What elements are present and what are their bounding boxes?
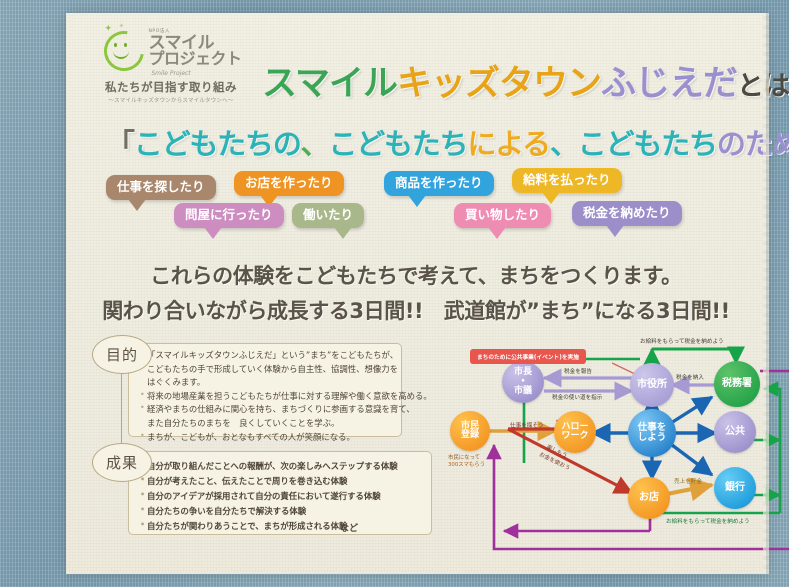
list-item-cont: また自分たちのまちを 良くしていくことを学ぶ。 xyxy=(140,417,432,431)
quote-seg-1: こどもたちの xyxy=(134,127,301,161)
slide-paper: ✦ ✦ NPO法人 スマイル プロジェクト Smile Project 私たちが… xyxy=(66,13,766,574)
slogan-quote: 「こどもたちの、こどもたちによる、こどもたちのためのまち」 xyxy=(106,121,789,163)
label-tax-delivery: 税金を納入 xyxy=(676,373,704,381)
sparkle-small-icon: ✦ xyxy=(118,23,124,30)
bubble-work: 働いたり xyxy=(292,203,364,228)
node-label: お店 xyxy=(639,493,659,504)
quote-seg-3: による xyxy=(467,127,550,161)
node-shop: お店 xyxy=(628,477,670,519)
page-title: スマイルキッズタウンふじえだとは… xyxy=(262,55,789,106)
title-part-kidstown: キッズタウン xyxy=(397,64,601,104)
node-label: 市長・市議 xyxy=(514,368,532,396)
node-hello-work: ハローワーク xyxy=(554,411,596,453)
logo-block: ✦ ✦ NPO法人 スマイル プロジェクト Smile Project 私たちが… xyxy=(76,25,266,104)
list-item: 将来の地場産業を担うこどもたちが仕事に対する理解や働く意欲を高める。 xyxy=(140,390,432,404)
title-part-fujieda: ふじえだ xyxy=(601,64,737,104)
logo-line2: プロジェクト xyxy=(148,51,241,66)
node-label: 市役所 xyxy=(637,380,667,391)
sparkle-icon: ✦ xyxy=(104,25,112,34)
list-item: 自分が取り組んだことへの報酬が、次の楽しみへステップする体験 xyxy=(140,459,398,474)
town-flow-diagram: 市長・市議 市役所 税務署 市民登録 ハローワーク 仕事をしよう 公共 銀行 お… xyxy=(464,335,789,567)
purpose-pill-label: 目的 xyxy=(92,335,152,374)
node-bank: 銀行 xyxy=(714,467,756,509)
label-save-sales: 売上を貯金 xyxy=(674,477,702,485)
node-label: 仕事をしよう xyxy=(638,423,667,443)
logo-subtitle: 私たちが目指す取り組み xyxy=(76,79,266,95)
label-salary-tax-top: お給料をもらって税金を納めよう xyxy=(640,337,724,345)
label-tax-usage: 税金の使い道を指示 xyxy=(552,393,602,401)
node-city-hall: 市役所 xyxy=(630,363,674,407)
list-item-cont: はぐくみます。 xyxy=(140,376,432,390)
list-item: 自分のアイデアが採用されて自分の責任において遂行する体験 xyxy=(140,489,398,504)
title-part-smile: スマイル xyxy=(262,64,397,104)
quote-comma-2: 、 xyxy=(550,127,578,161)
node-mayor-council: 市長・市議 xyxy=(502,361,544,403)
purpose-list: 「スマイルキッズタウンふじえだ」という”まち”をこどもたちが、 こどもたちの手で… xyxy=(140,349,432,444)
caption-citizen-bonus: 市民になって 300スマもらう xyxy=(448,455,485,469)
list-item: まちが、こどもが、おとなもすべての人が笑顔になる。 xyxy=(140,431,432,445)
title-part-towa: とは… xyxy=(737,71,789,102)
bubble-open-shop: お店を作ったり xyxy=(234,171,344,196)
label-salary-tax-bottom: お給料をもらって税金を納めよう xyxy=(666,517,750,525)
smile-face-icon: ✦ ✦ xyxy=(100,25,144,69)
node-label: 税務署 xyxy=(722,379,752,390)
label-find-job: 仕事を探そう xyxy=(510,421,544,429)
quote-seg-4: こどもたち xyxy=(578,127,717,161)
intro-line-2: 関わり合いながら成長する3日間!! 武道館が”まち”になる3日間!! xyxy=(66,295,766,325)
logo-cursive-text: Smile Project xyxy=(76,70,266,77)
bubble-shopping: 買い物したり xyxy=(454,203,551,228)
bubble-go-wholesaler: 問屋に行ったり xyxy=(174,203,284,228)
quote-seg-5: のためのまち xyxy=(717,127,789,161)
node-tax-office: 税務署 xyxy=(714,361,760,407)
quote-seg-2: こどもたち xyxy=(328,127,467,161)
quote-comma-1: 、 xyxy=(301,127,329,161)
logo-subtitle-small: ～スマイルキッズタウンからスマイルタウンへ～ xyxy=(76,96,266,104)
bubble-job-search: 仕事を探したり xyxy=(106,175,216,200)
list-item: 自分たちが関わりあうことで、まちが形成される体験 xyxy=(140,519,398,534)
bubble-make-product: 商品を作ったり xyxy=(384,171,494,196)
node-citizen-registration: 市民登録 xyxy=(450,411,490,451)
results-pill-label: 成果 xyxy=(92,443,152,482)
intro-text: これらの体験をこどもたちで考えて、まちをつくります。 関わり合いながら成長する3… xyxy=(66,260,766,325)
node-lets-work: 仕事をしよう xyxy=(628,409,676,457)
node-label: 公共 xyxy=(725,427,745,438)
logo-name: スマイル プロジェクト xyxy=(148,35,241,66)
list-item: 「スマイルキッズタウンふじえだ」という”まち”をこどもたちが、 xyxy=(140,349,432,363)
list-item: 経済やまちの仕組みに関心を持ち、まちづくりに参画する意識を育て、 xyxy=(140,403,432,417)
label-tax-report: 税金を報告 xyxy=(564,367,592,375)
results-list: 自分が取り組んだことへの報酬が、次の楽しみへステップする体験 自分が考えたこと、… xyxy=(140,459,398,534)
results-etc-label: など xyxy=(340,521,358,534)
intro-line-1: これらの体験をこどもたちで考えて、まちをつくります。 xyxy=(66,260,766,290)
list-item: 自分が考えたこと、伝えたことで周りを巻き込む体験 xyxy=(140,474,398,489)
bubble-pay-tax: 税金を納めたり xyxy=(572,201,682,226)
node-public: 公共 xyxy=(714,411,756,453)
node-label: 銀行 xyxy=(725,483,745,494)
list-item: 自分たちの争いを自分たちで解決する体験 xyxy=(140,504,398,519)
quote-open-bracket: 「 xyxy=(106,127,134,161)
bubble-pay-salary: 給料を払ったり xyxy=(512,168,622,193)
public-works-banner: まちのために公共事業(イベント)を実施 xyxy=(470,349,586,364)
list-item-cont: こどもたちの手で形成していく体験から自主性、協調性、想像力を xyxy=(140,363,432,377)
node-label: ハローワーク xyxy=(561,423,588,442)
node-label: 市民登録 xyxy=(461,422,479,441)
